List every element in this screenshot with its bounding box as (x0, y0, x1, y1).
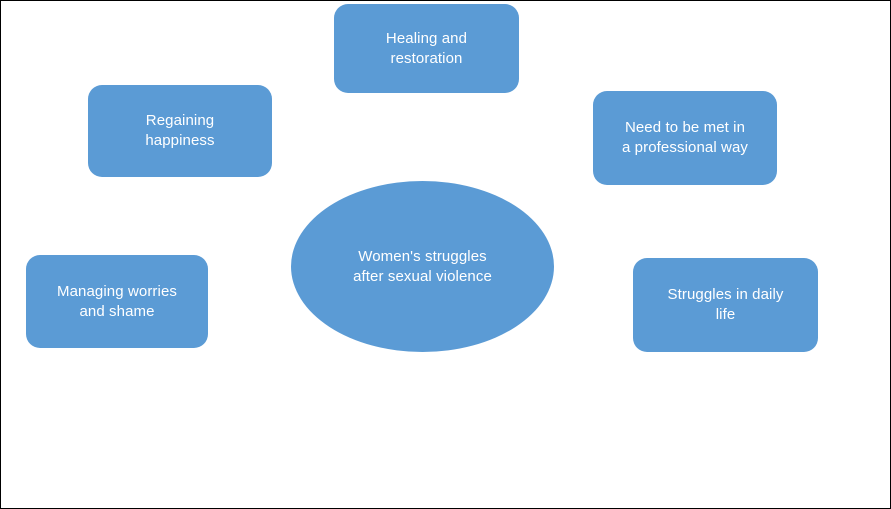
node-need-to-be-met-in-a-professional-way-label: Need to be met in a professional way (622, 118, 748, 158)
node-managing-worries-and-shame[interactable]: Managing worries and shame (26, 255, 208, 348)
node-managing-worries-and-shame-label: Managing worries and shame (57, 282, 177, 322)
node-healing-and-restoration[interactable]: Healing and restoration (334, 4, 519, 93)
node-struggles-in-daily-life[interactable]: Struggles in daily life (633, 258, 818, 352)
diagram-canvas: Women's struggles after sexual violence … (0, 0, 891, 509)
node-struggles-in-daily-life-label: Struggles in daily life (667, 285, 783, 325)
node-regaining-happiness[interactable]: Regaining happiness (88, 85, 272, 177)
center-node[interactable]: Women's struggles after sexual violence (291, 181, 554, 352)
node-healing-and-restoration-label: Healing and restoration (386, 29, 467, 69)
node-need-to-be-met-in-a-professional-way[interactable]: Need to be met in a professional way (593, 91, 777, 185)
center-node-label: Women's struggles after sexual violence (353, 247, 492, 287)
node-regaining-happiness-label: Regaining happiness (145, 111, 214, 151)
